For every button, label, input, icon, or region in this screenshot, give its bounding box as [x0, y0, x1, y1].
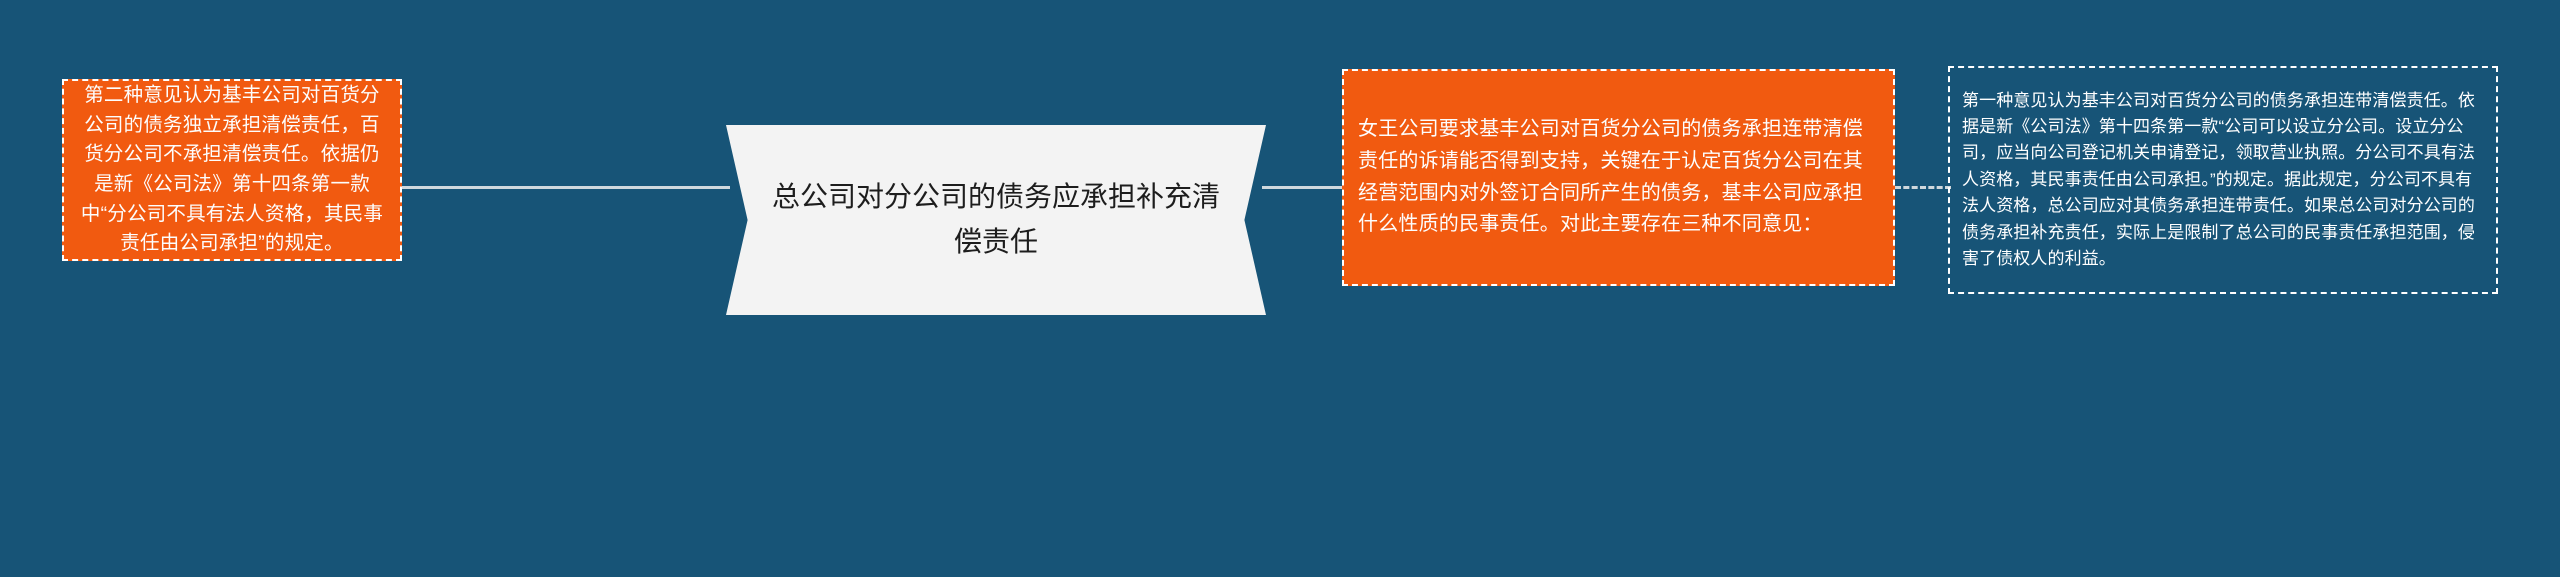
connector-center-to-question	[1262, 186, 1346, 189]
node-opinion-two[interactable]: 第二种意见认为基丰公司对百货分公司的债务独立承担清偿责任，百货分公司不承担清偿责…	[62, 79, 402, 261]
connector-left-to-center	[402, 186, 730, 189]
mindmap-canvas: 第二种意见认为基丰公司对百货分公司的债务独立承担清偿责任，百货分公司不承担清偿责…	[0, 0, 2560, 577]
node-center-topic-text: 总公司对分公司的债务应承担补充清偿责任	[726, 175, 1266, 265]
node-center-topic[interactable]: 总公司对分公司的债务应承担补充清偿责任	[726, 125, 1266, 315]
node-opinion-one-text: 第一种意见认为基丰公司对百货分公司的债务承担连带清偿责任。依据是新《公司法》第十…	[1950, 88, 2496, 272]
node-opinion-one[interactable]: 第一种意见认为基丰公司对百货分公司的债务承担连带清偿责任。依据是新《公司法》第十…	[1948, 66, 2498, 294]
node-opinion-two-text: 第二种意见认为基丰公司对百货分公司的债务独立承担清偿责任，百货分公司不承担清偿责…	[64, 81, 400, 259]
connector-question-to-opinion-one	[1895, 186, 1951, 189]
node-question-text: 女王公司要求基丰公司对百货分公司的债务承担连带清偿责任的诉请能否得到支持，关键在…	[1344, 114, 1893, 240]
node-question[interactable]: 女王公司要求基丰公司对百货分公司的债务承担连带清偿责任的诉请能否得到支持，关键在…	[1342, 69, 1895, 286]
